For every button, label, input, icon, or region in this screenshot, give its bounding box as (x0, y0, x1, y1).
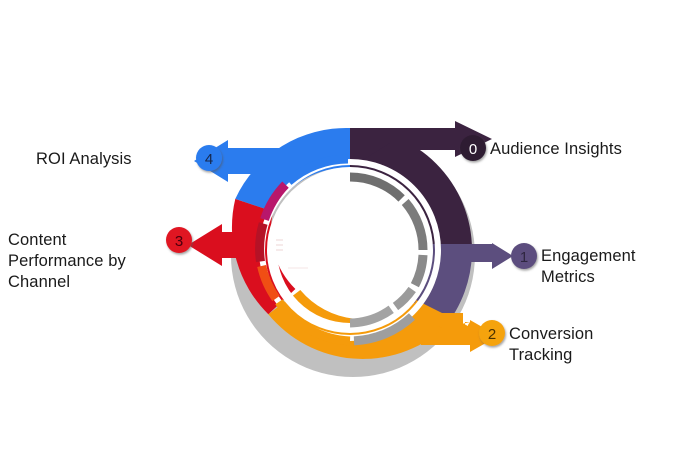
middle-gray-ring (272, 172, 428, 328)
label-engagement-metrics: Engagement Metrics (541, 246, 691, 288)
circular-arrow-diagram: 0 1 2 3 4 (0, 0, 700, 450)
badge-2-number: 2 (488, 326, 496, 343)
label-conversion-tracking: Conversion Tracking (509, 324, 669, 366)
badge-2[interactable]: 2 (479, 320, 505, 346)
badge-3-number: 3 (175, 233, 183, 250)
badge-0[interactable]: 0 (460, 135, 486, 161)
diagram-canvas: 0 1 2 3 4 Audience Insights Engagement M… (0, 0, 700, 450)
inner-colored-ring (260, 159, 438, 341)
label-roi-analysis: ROI Analysis (36, 149, 216, 170)
label-content-performance-by-channel: Content Performance by Channel (8, 230, 173, 293)
badge-1[interactable]: 1 (511, 243, 537, 269)
label-audience-insights: Audience Insights (490, 139, 690, 160)
inner-tick-marks (276, 240, 308, 268)
badge-1-number: 1 (520, 249, 528, 266)
badge-0-number: 0 (469, 141, 477, 158)
